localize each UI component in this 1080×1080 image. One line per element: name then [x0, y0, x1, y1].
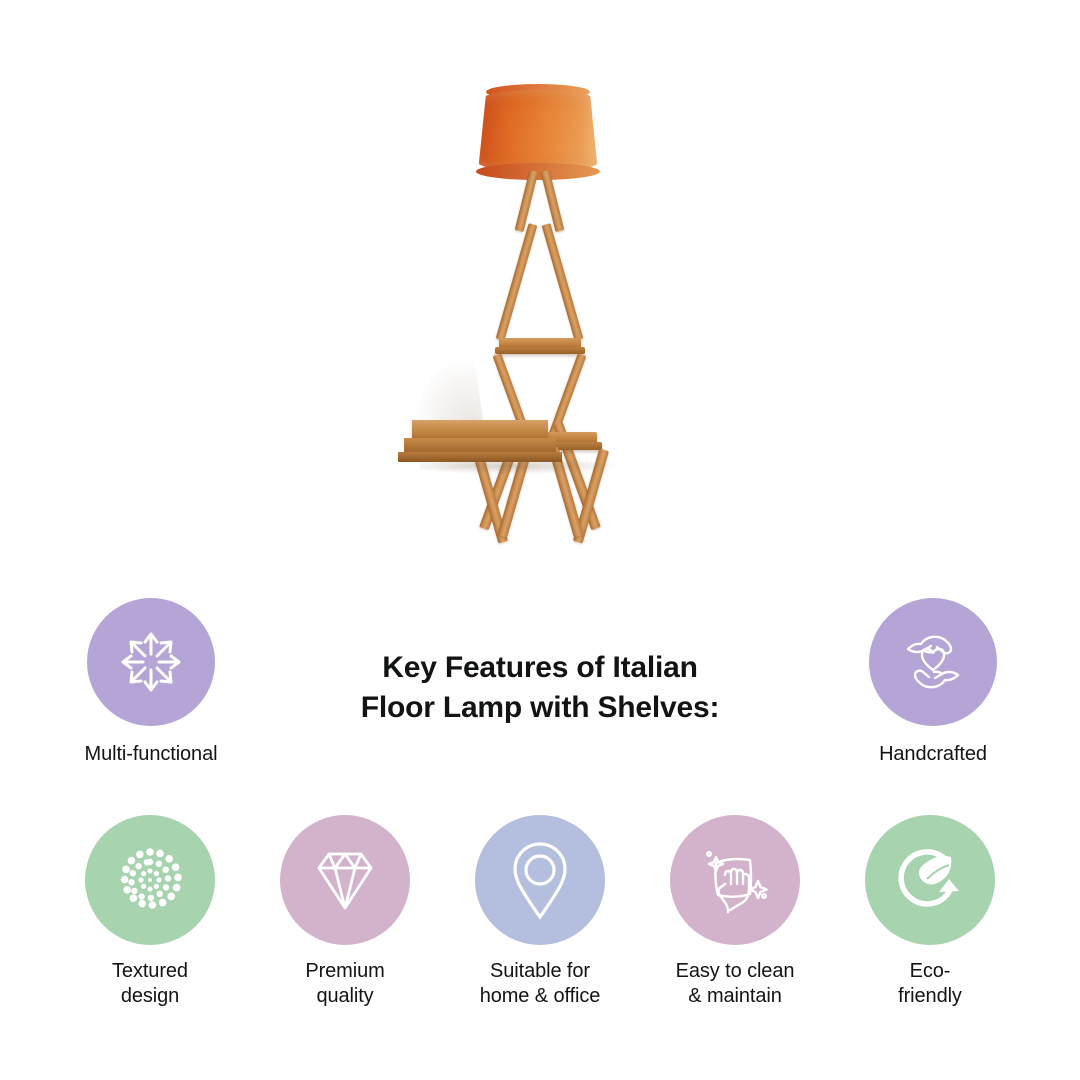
hands-heart-icon [894, 623, 972, 701]
feature-eco-friendly[interactable]: Eco- friendly [858, 815, 1002, 1009]
feature-icon-circle [865, 815, 995, 945]
lamp-base-shelf [412, 420, 548, 440]
feature-icon-circle [87, 598, 215, 726]
feature-label: Textured design [78, 959, 222, 1009]
feature-icon-circle [280, 815, 410, 945]
feature-premium-quality[interactable]: Premium quality [273, 815, 417, 1009]
page-title-line-1: Key Features of Italian [290, 648, 790, 688]
page-title-line-2: Floor Lamp with Shelves: [290, 688, 790, 728]
feature-easy-to-clean[interactable]: Easy to clean & maintain [643, 815, 827, 1009]
feature-handcrafted[interactable]: Handcrafted [838, 598, 1028, 767]
dot-pattern-icon [105, 835, 195, 925]
hand-wipe-sparkle-icon [692, 837, 778, 923]
product-feature-infographic: Key Features of Italian Floor Lamp with … [0, 0, 1080, 1080]
diamond-icon [303, 840, 387, 920]
feature-textured-design[interactable]: Textured design [78, 815, 222, 1009]
recycle-leaf-icon [887, 837, 973, 923]
feature-icon-circle [85, 815, 215, 945]
feature-label: Premium quality [273, 959, 417, 1009]
lampshade [478, 90, 598, 172]
feature-label: Suitable for home & office [448, 959, 632, 1009]
feature-label: Easy to clean & maintain [643, 959, 827, 1009]
feature-icon-circle [670, 815, 800, 945]
feature-label: Multi-functional [56, 742, 246, 767]
floor-shadow [420, 458, 620, 474]
wooden-lattice-column [450, 170, 630, 570]
feature-multi-functional[interactable]: Multi-functional [56, 598, 246, 767]
product-image [0, 0, 1080, 600]
feature-label: Eco- friendly [858, 959, 1002, 1009]
page-title: Key Features of Italian Floor Lamp with … [290, 648, 790, 727]
feature-suitable-home-office[interactable]: Suitable for home & office [448, 815, 632, 1009]
floor-lamp-illustration [390, 60, 690, 600]
expand-arrows-icon [114, 625, 188, 699]
feature-label: Handcrafted [838, 742, 1028, 767]
feature-icon-circle [475, 815, 605, 945]
map-pin-icon [503, 837, 577, 923]
feature-icon-circle [869, 598, 997, 726]
